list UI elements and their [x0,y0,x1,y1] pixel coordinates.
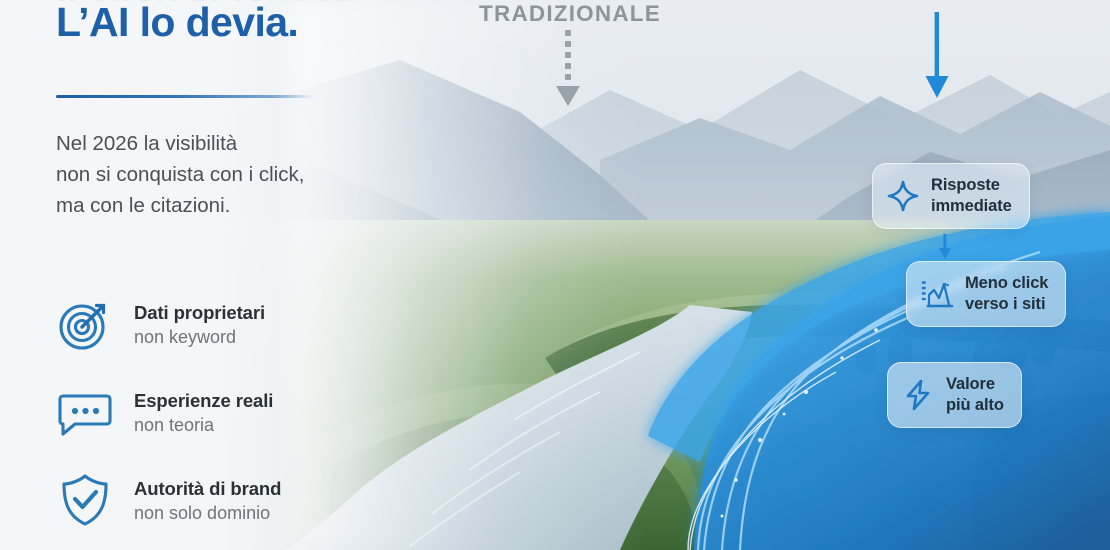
feature-subtitle: non teoria [134,414,273,437]
feature-subtitle: non keyword [134,326,265,349]
card-line-1: Risposte [931,175,1012,196]
dotted-down-arrow-icon [553,30,583,113]
card-label: Meno click verso i siti [965,273,1048,315]
bar-chart-icon [920,277,954,311]
sparkle-icon [886,179,920,213]
feature-list: Dati proprietari non keyword Esperienze … [56,280,366,544]
annotation-traditional-search: RICERCA TRADIZIONALE [432,0,708,26]
shield-check-icon [56,471,114,529]
card-line-1: Valore [946,374,1004,395]
feature-title: Dati proprietari [134,301,265,325]
target-icon [56,295,114,353]
feature-title: Autorità di brand [134,477,281,501]
feature-title: Esperienze reali [134,389,273,413]
subcopy-line-1: Nel 2026 la visibilità [56,128,356,159]
feature-subtitle: non solo dominio [134,502,281,525]
card-label: Valore più alto [946,374,1004,416]
chat-bubble-icon [56,383,114,441]
subcopy: Nel 2026 la visibilità non si conquista … [56,128,356,221]
feature-text: Esperienze reali non teoria [134,387,273,437]
card-label: Risposte immediate [931,175,1012,217]
solid-down-arrow-icon [922,12,952,105]
subcopy-line-2: non si conquista con i click, [56,159,356,190]
feature-item-dati-proprietari: Dati proprietari non keyword [56,280,366,368]
left-content-panel: Il click si ferma. L’AI lo devia. Nel 20… [0,0,372,550]
feature-item-esperienze-reali: Esperienze reali non teoria [56,368,366,456]
infographic-canvas: Il click si ferma. L’AI lo devia. Nel 20… [0,0,1110,550]
card-line-2: immediate [931,196,1012,217]
card-line-2: verso i siti [965,294,1048,315]
feature-text: Autorità di brand non solo dominio [134,475,281,525]
card-connector-arrow-icon [938,234,952,265]
feature-text: Dati proprietari non keyword [134,299,265,349]
subcopy-line-3: ma con le citazioni. [56,190,356,221]
annotation-traditional-line-2: TRADIZIONALE [432,2,708,26]
card-valore-piu-alto[interactable]: Valore più alto [887,362,1022,428]
card-line-1: Meno click [965,273,1048,294]
feature-item-autorita-di-brand: Autorità di brand non solo dominio [56,456,366,544]
title-divider [56,95,314,98]
page-title: L’AI lo devia. [56,2,376,43]
card-line-2: più alto [946,395,1004,416]
bolt-icon [901,378,935,412]
card-risposte-immediate[interactable]: Risposte immediate [872,163,1030,229]
card-meno-click[interactable]: Meno click verso i siti [906,261,1066,327]
